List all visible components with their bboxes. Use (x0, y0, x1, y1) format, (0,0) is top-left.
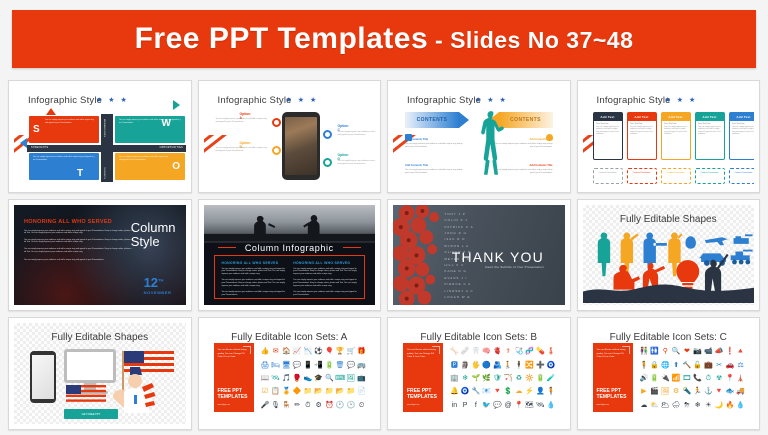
icon-cell[interactable]: 🛰 (536, 402, 545, 409)
smartphone-graphic (282, 112, 320, 180)
icon-cell[interactable]: 🔧 (472, 388, 481, 395)
icon-cell[interactable]: ⚓ (704, 388, 713, 395)
icon-cell[interactable]: ⛈ (684, 402, 690, 409)
icon-cell[interactable]: 🫂 (493, 362, 502, 369)
slide-thumbnail-11[interactable]: Fully Editable Icon Sets: B You can Resi… (387, 317, 571, 430)
icon-cell[interactable]: ⚖ (737, 362, 743, 369)
option-d-text: You can simply impress your audience and… (338, 160, 376, 165)
icon-cell[interactable]: 📖 (261, 375, 270, 382)
tank-icon (733, 234, 752, 244)
icon-cell[interactable]: 📄 (357, 388, 366, 395)
icon-cell[interactable]: 📂 (314, 388, 323, 395)
title-rule-left (218, 247, 236, 248)
icon-cell[interactable]: 🔻 (715, 388, 724, 395)
content-text-3: You can simply impress your audience and… (405, 169, 463, 174)
icon-cell[interactable]: 📧 (482, 388, 491, 395)
option-c-dot-icon (323, 130, 332, 139)
arrow-tip-right-icon (459, 112, 469, 128)
redcard-url: www.allppt.com (218, 404, 230, 406)
icon-cell[interactable]: 📹 (704, 348, 713, 355)
phone-screen-photo (285, 117, 317, 175)
icon-cell[interactable]: ✉ (273, 348, 279, 355)
contents-arrow-right-label: CONTENTS (499, 112, 553, 128)
icon-cell[interactable]: 🔨 (683, 362, 692, 369)
icon-cell[interactable]: ❄ (462, 375, 468, 382)
free-ppt-card: You can Resize without losing quality. Y… (214, 343, 254, 412)
icon-cell[interactable]: 🔒 (650, 362, 659, 369)
icon-cell[interactable]: ❤ (684, 348, 690, 355)
icon-grid-b: 🦴🩹🦷🧠🫀⚕🩺🧬💊🌡 🅿🗿🖐🔵🫂🚶🕴🔀➕🧿 🏢❄🌱🌿🛡🏹♻🔆🔋🧪 🔔🧿🔧📧🔻💲☁… (449, 345, 557, 412)
stars-icon: ★ ★ ★ (286, 96, 319, 104)
slide-12-canvas: Fully Editable Icon Sets: C You can Resi… (583, 323, 755, 424)
icon-cell[interactable]: ⚽ (314, 348, 323, 355)
icon-cell[interactable]: 📁 (325, 388, 334, 395)
icon-cell[interactable]: 📞 (693, 375, 702, 382)
helmet-icon (685, 236, 695, 248)
icon-cell[interactable]: 🐦 (482, 402, 491, 409)
column-body-5: You can simply impress your audience and… (732, 126, 754, 135)
icon-cell[interactable]: @ (505, 402, 512, 409)
stars-icon: ★ ★ ★ (665, 96, 698, 104)
swot-letter-w: W (162, 118, 171, 129)
tag-item[interactable]: Contents Presentation (695, 168, 725, 184)
slide-4-title: Infographic Style (597, 95, 671, 106)
icon-cell[interactable]: ⚡ (525, 388, 534, 395)
icon-cell[interactable]: 💲 (504, 388, 513, 395)
option-b-text: You can simply impress your audience and… (216, 147, 268, 152)
jet-plane-icon (704, 237, 727, 245)
corner-bracket-icon (243, 346, 251, 354)
two-column-box: HONORING ALL WHO SERVED You can simply i… (214, 255, 366, 300)
slide-thumbnail-10[interactable]: Fully Editable Icon Sets: A You can Resi… (198, 317, 382, 430)
icon-cell[interactable]: 🏢 (450, 375, 459, 382)
icon-cell[interactable]: ☀ (705, 402, 711, 409)
swot-label-strengths: STRENGTHS (31, 146, 48, 149)
icon-cell[interactable]: 🎬 (650, 388, 659, 395)
icon-cell[interactable]: f (475, 402, 477, 409)
icon-cell[interactable]: 🧍 (640, 362, 649, 369)
contents-arrow-left: CONTENTS (405, 112, 469, 128)
icon-cell[interactable]: 🎞 (682, 375, 691, 382)
column-right-text-2: You can simply impress your audience and… (293, 279, 357, 287)
icon-cell[interactable]: ✂ (716, 362, 722, 369)
icon-cell[interactable]: 🦷 (472, 348, 481, 355)
option-b-dot-icon (272, 146, 281, 155)
column-style-line1: Column (131, 221, 176, 235)
swot-quadrant-weaknesses: W You can simply impress your audience a… (115, 116, 185, 143)
icon-cell[interactable]: 🧠 (482, 348, 491, 355)
icon-cell[interactable]: 📷 (693, 348, 702, 355)
column-body-1: You can simply impress your audience and… (596, 126, 619, 135)
slide-thumbnail-6[interactable]: Column Infographic HONORING ALL WHO SERV… (198, 199, 382, 312)
icon-cell[interactable]: 📺 (357, 375, 366, 382)
tag-item[interactable]: Contents Presentation (729, 168, 755, 184)
icon-cell[interactable]: ➕ (536, 362, 545, 369)
swot-label-weaknesses: WEAKNESSES (103, 119, 105, 137)
slide-1-canvas: Infographic Style ★ ★ ★ S You can simply… (14, 86, 186, 187)
soldiers-silhouette-icon (204, 205, 376, 243)
icon-cell[interactable]: 🗑 (336, 362, 345, 369)
icon-cell[interactable]: 📋 (271, 388, 280, 395)
option-a-dot-icon (272, 118, 281, 127)
redcard-brand: FREE PPT TEMPLATES (407, 388, 443, 400)
slide-thumbnail-12[interactable]: Fully Editable Icon Sets: C You can Resi… (577, 317, 761, 430)
icon-cell[interactable]: 💊 (536, 348, 545, 355)
icon-cell[interactable]: 👫 (640, 348, 649, 355)
tank-blue-icon (730, 249, 752, 264)
column-infographic-title: Column Infographic (204, 243, 376, 253)
icon-cell[interactable]: 🦴 (450, 348, 459, 355)
redcard-brand: FREE PPT TEMPLATES (218, 388, 254, 400)
dark-text-block: HONORING ALL WHO SERVED You can simply i… (24, 219, 132, 262)
slide-1-title: Infographic Style (28, 95, 102, 106)
icon-cell[interactable]: 🔦 (683, 388, 692, 395)
column-header-2: Add Text (628, 113, 656, 121)
icon-cell[interactable]: 🌡 (547, 348, 556, 355)
content-title-1: Add Contents Title (405, 138, 463, 141)
icon-cell[interactable]: 🖥 (282, 362, 291, 369)
icon-cell[interactable]: ⚲ (663, 348, 668, 355)
content-block-left-2: Add Contents Title You can simply impres… (405, 164, 463, 174)
icon-cell[interactable]: ⏲ (359, 402, 364, 409)
content-title-3: Add Contents Title (405, 164, 463, 167)
column-style-line2: Style (131, 235, 176, 249)
soldier-blue-icon (643, 232, 666, 276)
column-header-5: Add Text (730, 113, 755, 121)
icon-cell[interactable]: 🎵 (282, 375, 291, 382)
content-block-right-2: Add Contents Title You can simply impres… (495, 164, 553, 174)
icon-cell[interactable]: 📶 (672, 375, 681, 382)
icon-grid-a: 👍✉🏠📈📉⚽🎈🏆🛒🎁 🖨🛏🖥💬📱📲🔋🗑💬🚌 📖🛰🎵🥊👟🎓🔍⌨🖼📺 ☑📋🏅🔶📁📂📁… (260, 345, 368, 412)
tag-item[interactable]: Contents Presentation (661, 168, 691, 184)
tag-item[interactable]: Contents Presentation (593, 168, 623, 184)
icon-cell[interactable]: 📂 (336, 388, 345, 395)
icon-cell[interactable]: 📈 (293, 348, 302, 355)
banner-title-rest: - Slides No 37~48 (428, 27, 633, 53)
icon-cell[interactable]: 🚗 (726, 362, 735, 369)
column-left-text-1: You can simply impress your audience and… (222, 268, 286, 276)
tablet-device-icon (30, 351, 56, 403)
icon-cell[interactable]: 🩺 (515, 348, 524, 355)
icon-cell[interactable]: 🖼 (346, 375, 355, 382)
icon-cell[interactable]: 🎓 (314, 375, 323, 382)
icon-cell[interactable]: 🔋 (325, 362, 334, 369)
icon-cell[interactable]: 🎙 (271, 402, 280, 409)
dark-paragraph-4: You can simply impress your audience and… (24, 259, 132, 262)
icon-cell[interactable]: 🔓 (693, 362, 702, 369)
column-card[interactable]: Add Text Your Text HereYou can simply im… (695, 112, 725, 160)
icon-cell[interactable]: 🪑 (282, 402, 291, 409)
date-suffix: TH (158, 278, 163, 283)
slide-gallery-page: Free PPT Templates - Slides No 37~48 Inf… (0, 0, 768, 435)
soldiers-photo-strip (204, 205, 376, 243)
icon-cell[interactable]: 🧬 (525, 348, 534, 355)
icon-cell[interactable]: 🏹 (504, 375, 513, 382)
icon-cell[interactable]: 🎈 (325, 348, 334, 355)
icon-cell[interactable]: 🛡 (493, 375, 502, 382)
swot-text-t: You can simply impress your audience and… (33, 156, 95, 161)
icon-cell[interactable]: 🔍 (672, 348, 681, 355)
content-title-4: Add Contents Title (495, 164, 553, 167)
icon-cell[interactable]: 📲 (314, 362, 323, 369)
icon-cell[interactable]: 📍 (515, 402, 524, 409)
icon-cell[interactable]: 🌧 (672, 402, 681, 409)
slide-11-canvas: Fully Editable Icon Sets: B You can Resi… (393, 323, 565, 424)
icon-cell[interactable]: 🏠 (282, 348, 291, 355)
icon-cell[interactable]: 🏆 (336, 348, 345, 355)
slide-8-canvas: Fully Editable Shapes (583, 205, 755, 306)
column-card[interactable]: Add Text Your Text HereYou can simply im… (593, 112, 623, 160)
icon-cell[interactable]: ▶ (641, 388, 646, 395)
icon-cell[interactable]: 🔔 (450, 388, 459, 395)
icon-cell[interactable]: 🕴 (515, 362, 524, 369)
corner-bracket-icon (432, 346, 440, 354)
content-title-2: Add Contents Title (495, 138, 553, 141)
icon-cell[interactable]: 🥊 (293, 375, 302, 382)
icon-cell[interactable]: 🔶 (293, 388, 302, 395)
icon-cell[interactable]: 🏅 (282, 388, 291, 395)
banner-title: Free PPT Templates - Slides No 37~48 (135, 22, 634, 56)
redcard-url: www.allppt.com (407, 404, 419, 406)
icon-cell[interactable]: in (452, 402, 457, 409)
icon-cell[interactable]: 🗼 (736, 375, 745, 382)
icon-cell[interactable]: ⚕ (506, 348, 510, 355)
icon-cell[interactable]: ⚙ (315, 402, 321, 409)
icon-cell[interactable]: 🔋 (650, 375, 659, 382)
slide-thumbnail-7[interactable]: TONY J P COLIN S J PATRICK C A JONG D H … (387, 199, 571, 312)
icon-cell[interactable]: ⌨ (335, 375, 345, 382)
date-display: 12TH NOVEMBER (144, 275, 172, 295)
arrow-left-icon (20, 138, 27, 148)
icon-cell[interactable]: ⚙ (673, 388, 679, 395)
icon-cell[interactable]: ☑ (262, 388, 268, 395)
icon-cell[interactable]: 🎁 (357, 348, 366, 355)
icon-cell[interactable]: 📁 (304, 388, 313, 395)
cloud-icon (546, 134, 553, 141)
icon-cell[interactable]: P (463, 402, 468, 409)
icon-cell[interactable]: 🔋 (536, 375, 545, 382)
icon-cell[interactable]: 🚚 (736, 388, 745, 395)
icon-cell[interactable]: 🖨 (260, 362, 269, 369)
icon-cell[interactable]: 🔻 (493, 388, 502, 395)
dark-paragraph-3: You can simply impress your audience and… (24, 248, 132, 253)
icon-cell[interactable]: 👤 (536, 388, 545, 395)
icon-cell[interactable]: ⏰ (325, 402, 334, 409)
slide-thumbnail-5[interactable]: HONORING ALL WHO SERVED You can simply i… (8, 199, 192, 312)
column-card[interactable]: Add Text Your Text HereYou can simply im… (661, 112, 691, 160)
camera-icon (405, 134, 412, 141)
column-card[interactable]: Add Text Your Text HereYou can simply im… (729, 112, 755, 160)
icon-cell[interactable]: 🧿 (461, 388, 470, 395)
thank-you-subtitle: Insert the Subtitle of Your Presentation (485, 265, 544, 269)
slide-9-canvas: Fully Editable Shapes GET FREE PPT (14, 323, 186, 424)
tag-item[interactable]: Contents Presentation (627, 168, 657, 184)
option-c-text: You can simply impress your audience and… (338, 131, 376, 136)
column-card[interactable]: Add Text Your Text HereYou can simply im… (627, 112, 657, 160)
slide-thumbnail-1[interactable]: Infographic Style ★ ★ ★ S You can simply… (8, 80, 192, 193)
icon-cell[interactable]: 🚻 (650, 348, 659, 355)
swot-text-w: You can simply impress your audience and… (119, 119, 181, 124)
icon-cell[interactable]: 📱 (304, 362, 313, 369)
column-left-heading: HONORING ALL WHO SERVED (222, 261, 286, 265)
usa-flag-small-icon (66, 383, 106, 405)
swot-letter-s: S (33, 124, 40, 135)
icon-cell[interactable]: 🌙 (715, 402, 724, 409)
icon-cell[interactable]: 🕐 (336, 402, 345, 409)
icon-cell[interactable]: ♻ (516, 375, 522, 382)
free-ppt-card: You can Resize without losing quality. Y… (403, 343, 443, 412)
option-a-text: You can simply impress your audience and… (216, 118, 268, 123)
icon-cell[interactable]: 🌐 (661, 362, 670, 369)
icon-cell[interactable]: 🌱 (472, 375, 481, 382)
icon-cell[interactable]: 🔥 (726, 402, 735, 409)
date-number: 12 (144, 275, 158, 290)
arrow-up-icon (46, 108, 56, 115)
icon-cell[interactable]: 🌥 (661, 402, 670, 409)
content-text-1: You can simply impress your audience and… (405, 143, 463, 148)
corner-bracket-icon (622, 346, 630, 354)
icon-cell[interactable]: 📍 (726, 375, 735, 382)
icon-cell[interactable]: 🔆 (525, 375, 534, 382)
icon-cell[interactable]: 💬 (347, 362, 356, 369)
icon-cell[interactable]: 💬 (293, 362, 302, 369)
icon-cell[interactable]: 🧍 (547, 388, 556, 395)
free-ppt-card: You can Resize without losing quality. Y… (593, 343, 633, 412)
icon-cell[interactable]: 💬 (493, 402, 502, 409)
dark-paragraph-1: You can simply impress your audience and… (24, 230, 132, 235)
slide-thumbnail-9[interactable]: Fully Editable Shapes GET FREE PPT (8, 317, 192, 430)
column-header-4: Add Text (696, 113, 724, 121)
slide-2-title: Infographic Style (218, 95, 292, 106)
slide-thumbnail-3[interactable]: Infographic Style ★ ★ ★ CONTENTS CONTENT… (387, 80, 571, 193)
icon-cell[interactable]: 📣 (715, 348, 724, 355)
icon-cell[interactable]: ⬆ (673, 362, 679, 369)
content-text-2: You can simply impress your audience and… (495, 143, 553, 148)
column-header-1: Add Text (594, 113, 622, 121)
icon-grid-c: 👫🚻⚲🔍❤📷📹📣❗🔺 🧍🔒🌐⬆🔨🔓💼✂🚗⚖ 🔊🔋🔌📶🎞📞⏱☢📍🗼 ▶🎬🖼⚙🔦🏃⚓… (639, 345, 747, 412)
icon-cell[interactable]: 🧪 (547, 375, 556, 382)
icon-cell[interactable]: 🛏 (271, 362, 280, 369)
icon-cell[interactable]: ❄ (695, 402, 701, 409)
icon-cell[interactable]: 🔀 (525, 362, 534, 369)
icon-cell[interactable]: 🩹 (461, 348, 470, 355)
stars-icon: ★ ★ ★ (475, 96, 508, 104)
stars-icon: ★ ★ ★ (96, 96, 129, 104)
icon-cell[interactable]: 🐟 (726, 388, 735, 395)
icon-cell[interactable]: 📉 (304, 348, 313, 355)
slide-thumbnail-grid: Infographic Style ★ ★ ★ S You can simply… (8, 80, 760, 430)
icon-cell[interactable]: 🔊 (640, 375, 649, 382)
column-body-2: You can simply impress your audience and… (630, 126, 653, 135)
slide-5-canvas: HONORING ALL WHO SERVED You can simply i… (14, 205, 186, 306)
icon-cell[interactable]: 🧿 (547, 362, 556, 369)
contents-arrow-left-label: CONTENTS (405, 112, 459, 128)
icon-cell[interactable]: 💧 (547, 402, 556, 409)
icon-cell[interactable]: 🛰 (271, 375, 280, 382)
icon-cell[interactable]: 🚶 (504, 362, 513, 369)
icon-cell[interactable]: 💧 (736, 402, 745, 409)
arrow-down-icon (142, 162, 152, 169)
icon-cell[interactable]: 🔍 (325, 375, 334, 382)
dark-heading: HONORING ALL WHO SERVED (24, 219, 132, 225)
icon-cell[interactable]: 🗿 (461, 362, 470, 369)
icon-cell[interactable]: 🕑 (347, 402, 356, 409)
content-block-right-1: Add Contents Title You can simply impres… (495, 138, 553, 148)
slide-12-title: Fully Editable Icon Sets: C (583, 332, 755, 343)
column-left-text-2: You can simply impress your audience and… (222, 279, 286, 287)
swot-diagram: S You can simply impress your audience a… (27, 114, 186, 182)
military-shapes-group (583, 205, 755, 306)
icon-cell[interactable]: 💼 (704, 362, 713, 369)
slide-11-title: Fully Editable Icon Sets: B (393, 332, 565, 343)
icon-cell[interactable]: 👍 (261, 348, 270, 355)
slide-3-canvas: Infographic Style ★ ★ ★ CONTENTS CONTENT… (393, 86, 565, 187)
swot-label-opportunities: OPPORTUNITIES (160, 146, 183, 149)
slide-thumbnail-8[interactable]: Fully Editable Shapes (577, 199, 761, 312)
icon-cell[interactable]: 🛒 (347, 348, 356, 355)
redcard-url: www.allppt.com (597, 404, 609, 406)
icon-cell[interactable]: ☢ (716, 375, 722, 382)
icon-cell[interactable]: 🔺 (736, 348, 745, 355)
slide-2-canvas: Infographic Style ★ ★ ★ Option A You can… (204, 86, 376, 187)
icon-cell[interactable]: 🫀 (493, 348, 502, 355)
icon-cell[interactable]: 👟 (304, 375, 313, 382)
icon-cell[interactable]: ⏱ (706, 375, 711, 382)
icon-cell[interactable]: ✏ (294, 402, 300, 409)
slide-thumbnail-4[interactable]: Infographic Style ★ ★ ★ Add Text Your Te… (577, 80, 761, 193)
header-banner: Free PPT Templates - Slides No 37~48 (12, 10, 756, 68)
swot-text-o: You can simply impress your audience and… (119, 156, 169, 161)
icon-cell[interactable]: 🖐 (472, 362, 481, 369)
icon-cell[interactable]: ⏱ (305, 402, 310, 409)
icon-cell[interactable]: 🎤 (261, 402, 270, 409)
icon-cell[interactable]: 📁 (347, 388, 356, 395)
slide-10-title: Fully Editable Icon Sets: A (204, 332, 376, 343)
icon-cell[interactable]: 🗺 (525, 402, 534, 409)
swot-quadrant-threats: T You can simply impress your audience a… (29, 153, 99, 180)
content-block-left-1: Add Contents Title You can simply impres… (405, 138, 463, 148)
column-body-3: You can simply impress your audience and… (664, 126, 687, 135)
icon-cell[interactable]: ☁ (640, 402, 647, 409)
icon-cell[interactable]: 🏃 (693, 388, 702, 395)
slide-6-canvas: Column Infographic HONORING ALL WHO SERV… (204, 205, 376, 306)
icon-cell[interactable]: 🖼 (661, 388, 670, 395)
icon-cell[interactable]: 🅿 (451, 362, 458, 369)
redcard-brand: FREE PPT TEMPLATES (597, 388, 633, 400)
arrow-right-icon (173, 100, 180, 110)
column-card-list: Add Text Your Text HereYou can simply im… (593, 112, 755, 160)
column-header-3: Add Text (662, 113, 690, 121)
slide-9-title: Fully Editable Shapes (14, 332, 186, 343)
icon-cell[interactable]: ☁ (515, 388, 522, 395)
icon-cell[interactable]: ⛅ (650, 402, 659, 409)
icon-cell[interactable]: 🔵 (482, 362, 491, 369)
swot-quadrant-strengths: S You can simply impress your audience a… (29, 116, 99, 143)
slide-4-canvas: Infographic Style ★ ★ ★ Add Text Your Te… (583, 86, 755, 187)
option-d-dot-icon (323, 158, 332, 167)
column-left: HONORING ALL WHO SERVED You can simply i… (222, 261, 286, 294)
column-right-text-1: You can simply impress your audience and… (293, 268, 357, 276)
slide-thumbnail-2[interactable]: Infographic Style ★ ★ ★ Option A You can… (198, 80, 382, 193)
icon-cell[interactable]: 🌿 (482, 375, 491, 382)
icon-cell[interactable]: 🔌 (661, 375, 670, 382)
swot-letter-o: O (172, 161, 180, 172)
icon-cell[interactable]: 🚌 (357, 362, 366, 369)
dark-paragraph-2: You can simply impress your audience and… (24, 239, 132, 244)
column-right-heading: HONORING ALL WHO SERVED (293, 261, 357, 265)
date-month: NOVEMBER (144, 290, 172, 295)
icon-cell[interactable]: ❗ (726, 348, 735, 355)
